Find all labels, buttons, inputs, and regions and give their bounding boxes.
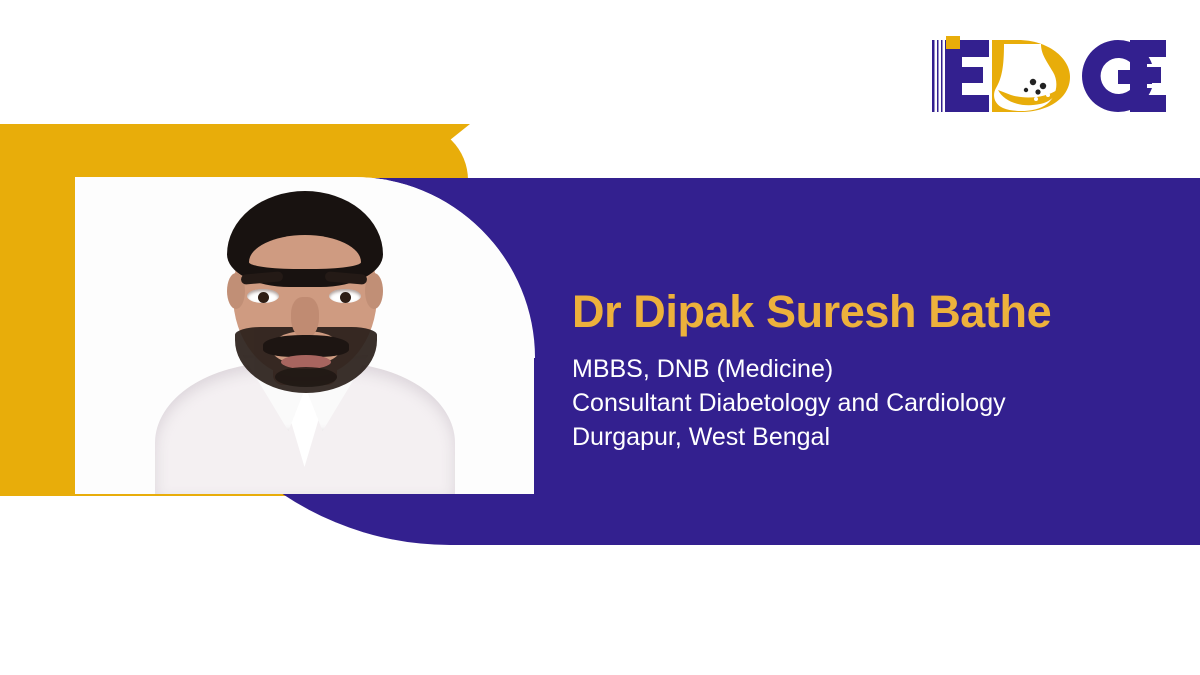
pupil-left bbox=[258, 292, 269, 303]
portrait-illustration bbox=[155, 177, 455, 494]
edge-logo-svg bbox=[930, 34, 1166, 118]
stomach-icon bbox=[992, 40, 1070, 112]
credential-qualification: MBBS, DNB (Medicine) bbox=[572, 353, 1051, 387]
pupil-right bbox=[340, 292, 351, 303]
credential-designation: Consultant Diabetology and Cardiology bbox=[572, 387, 1051, 421]
logo-gold-accent bbox=[946, 36, 960, 49]
doctor-details: Dr Dipak Suresh Bathe MBBS, DNB (Medicin… bbox=[572, 288, 1051, 455]
edge-logo[interactable] bbox=[930, 34, 1166, 118]
doctor-credentials: MBBS, DNB (Medicine) Consultant Diabetol… bbox=[572, 335, 1051, 454]
doctor-photo bbox=[75, 177, 534, 494]
logo-rule-2 bbox=[937, 40, 939, 112]
logo-letter-e-1 bbox=[945, 40, 989, 112]
chin-shadow bbox=[275, 367, 337, 387]
doctor-name: Dr Dipak Suresh Bathe bbox=[572, 288, 1051, 335]
doctor-photo-card bbox=[75, 177, 534, 494]
moustache bbox=[263, 335, 349, 357]
credential-location: Durgapur, West Bengal bbox=[572, 421, 1051, 455]
logo-rule-3 bbox=[941, 40, 943, 112]
hair bbox=[227, 191, 383, 287]
logo-letter-e-2 bbox=[1130, 40, 1166, 112]
ear-right bbox=[365, 273, 383, 309]
speaker-card-slide: Dr Dipak Suresh Bathe MBBS, DNB (Medicin… bbox=[0, 0, 1200, 675]
nose bbox=[291, 297, 319, 339]
logo-rule-1 bbox=[932, 40, 935, 112]
